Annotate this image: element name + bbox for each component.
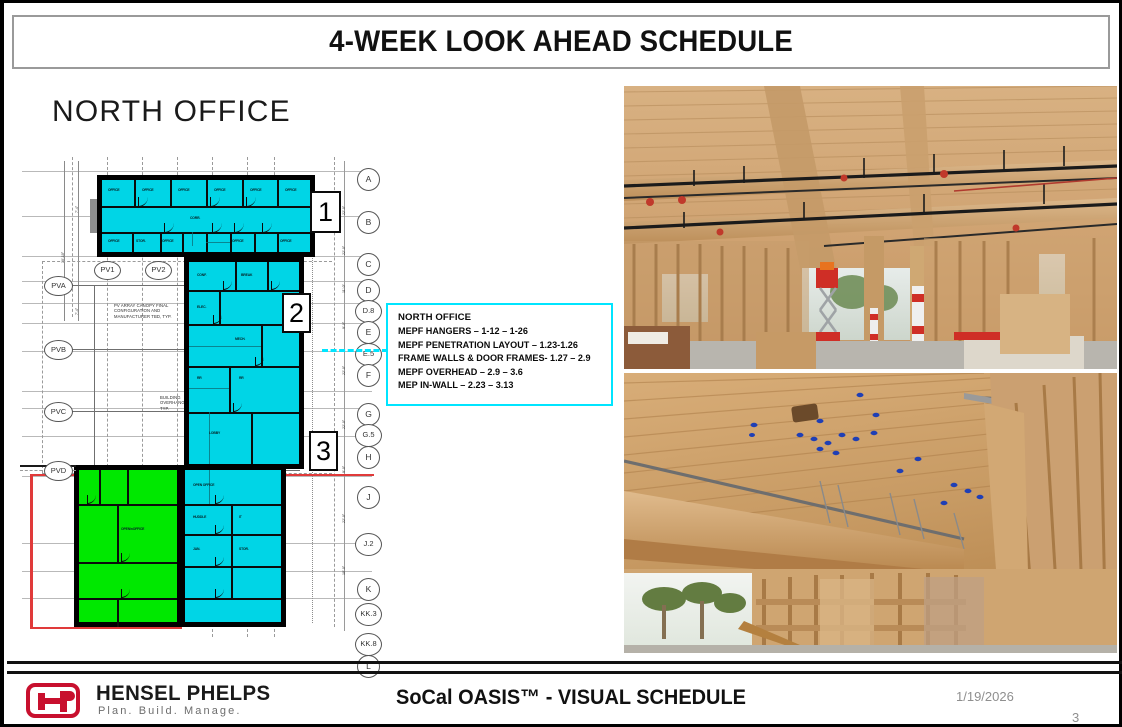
room-tag: OFFICE [232, 240, 244, 244]
callout-line-1: MEPF HANGERS – 1-12 – 1-26 [398, 325, 611, 339]
room-tag: MECH. [235, 338, 245, 342]
grid-bubble-PV1: PV1 [94, 261, 121, 280]
grid-bubble-E: E [357, 321, 380, 344]
room-tag: OFFICE [285, 189, 297, 193]
room-tag: OPEN OFFICE [193, 484, 214, 488]
floor-plan-drawing: 30'-10" 7'-4" 7'-4" 22'-0" 22'-0" 11'-0"… [12, 143, 412, 648]
grid-bubble-G: G [357, 403, 380, 426]
grid-bubble-PVA: PVA [44, 276, 73, 296]
grid-bubble-D8: D.8 [355, 300, 382, 323]
zone-badge-3[interactable]: 3 [309, 431, 338, 471]
room-tag: OFFICE [162, 240, 174, 244]
room-tag: CORR. [190, 217, 200, 221]
callout-line-5: MEP IN-WALL – 2.23 – 3.13 [398, 379, 611, 393]
room-tag: OFFICE [250, 189, 262, 193]
photo-clt-ceiling-upward [624, 373, 1117, 653]
callout-line-3: FRAME WALLS & DOOR FRAMES- 1.27 – 2.9 [398, 352, 611, 366]
callout-line-4: MEPF OVERHEAD – 2.9 – 3.6 [398, 366, 611, 380]
grid-bubble-K: K [357, 578, 380, 601]
zone-2-3-area: CONF. BREAK ELEC. MECH. RR RR LOBBY [184, 257, 304, 469]
room-tag: OFFICE [108, 189, 120, 193]
grid-bubble-G5: G.5 [355, 424, 382, 447]
grid-bubble-J: J [357, 486, 380, 509]
grid-bubble-J2: J.2 [355, 533, 382, 556]
grid-bubble-PVB: PVB [44, 340, 73, 360]
grid-bubble-PVC: PVC [44, 402, 73, 422]
page-title: 4-WEEK LOOK AHEAD SCHEDULE [329, 25, 793, 59]
room-tag: JAN. [193, 548, 200, 552]
room-tag: ELEC. [197, 306, 206, 310]
grid-bubble-E5: E.5 [355, 343, 382, 366]
room-tag: RR [197, 377, 202, 381]
footer-divider-top [7, 661, 1122, 664]
room-tag: STOR. [136, 240, 146, 244]
room-tag: STOR. [239, 548, 249, 552]
zone-badge-1[interactable]: 1 [310, 191, 341, 233]
callout-title: NORTH OFFICE [398, 312, 611, 323]
room-tag: OFFICE [280, 240, 292, 244]
callout-leader-line [322, 349, 388, 352]
grid-bubble-H: H [357, 446, 380, 469]
zone-3-strip: OPEN OFFICE HUDDLE IT JAN. STOR. [180, 465, 286, 627]
grid-bubble-PV2: PV2 [145, 261, 172, 280]
room-tag: IT [239, 516, 242, 520]
photo-mass-timber-ceiling-wide [624, 86, 1117, 369]
section-heading: NORTH OFFICE [52, 95, 291, 129]
room-tag: LOBBY [209, 432, 220, 436]
slide-title-box: 4-WEEK LOOK AHEAD SCHEDULE [12, 15, 1110, 69]
room-tag: OPEN\nOFFICE [121, 528, 144, 532]
footer-date: 1/19/2026 [956, 689, 1014, 704]
room-tag: RR [239, 377, 244, 381]
zone-1-area: OFFICE OFFICE OFFICE OFFICE OFFICE OFFIC… [97, 175, 315, 257]
zone-green-area: OPEN\nOFFICE [74, 465, 182, 627]
hensel-phelps-logo-icon [26, 683, 80, 718]
room-tag: HUDDLE [193, 516, 206, 520]
room-tag: OFFICE [178, 189, 190, 193]
room-tag: OFFICE [108, 240, 120, 244]
room-tag: BREAK [241, 274, 252, 278]
grid-bubble-F: F [357, 364, 380, 387]
grid-bubble-KK8: KK.8 [355, 633, 382, 656]
callout-line-2: MEPF PENETRATION LAYOUT – 1.23-1.26 [398, 339, 611, 353]
footer-title: SoCal OASIS™ - VISUAL SCHEDULE [367, 686, 776, 710]
grid-bubble-B: B [357, 211, 380, 234]
grid-bubble-D: D [357, 279, 380, 302]
slide-footer: HENSEL PHELPS Plan. Build. Manage. SoCal… [4, 674, 1122, 727]
room-tag: OFFICE [214, 189, 226, 193]
grid-bubble-KK3: KK.3 [355, 603, 382, 626]
zone-badge-2[interactable]: 2 [282, 293, 311, 333]
grid-bubble-PVD: PVD [44, 461, 73, 481]
slide-canvas: 4-WEEK LOOK AHEAD SCHEDULE NORTH OFFICE [0, 0, 1122, 727]
grid-bubble-A: A [357, 168, 380, 191]
room-tag: CONF. [197, 274, 206, 278]
footer-page-number: 3 [1072, 710, 1079, 725]
room-tag: OFFICE [142, 189, 154, 193]
company-tagline: Plan. Build. Manage. [98, 705, 242, 717]
company-name: HENSEL PHELPS [96, 682, 270, 706]
callout-box-north-office: NORTH OFFICE MEPF HANGERS – 1-12 – 1-26 … [386, 303, 613, 406]
grid-bubble-C: C [357, 253, 380, 276]
